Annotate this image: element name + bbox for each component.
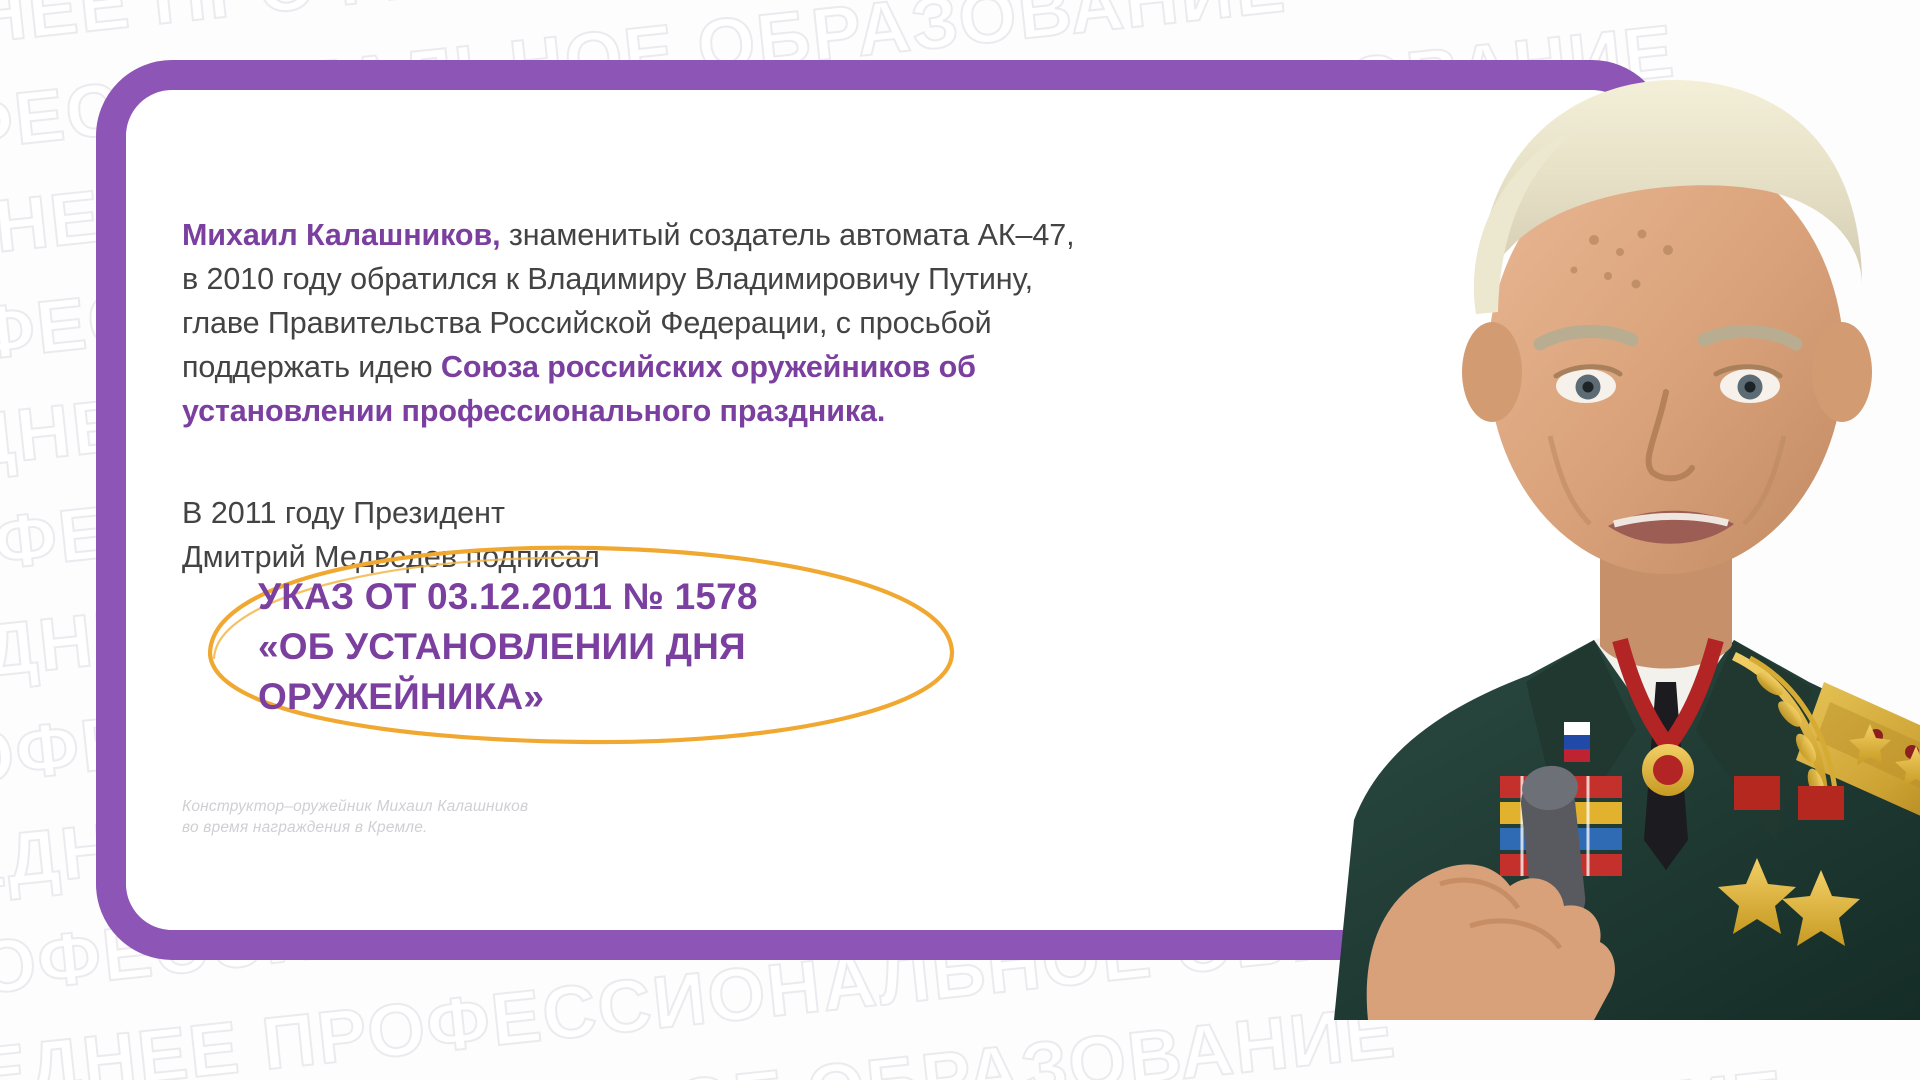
decree-line-2: «ОБ УСТАНОВЛЕНИИ ДНЯ [258, 622, 958, 672]
decree-callout: УКАЗ ОТ 03.12.2011 № 1578 «ОБ УСТАНОВЛЕН… [182, 538, 982, 758]
photo-caption-line1: Конструктор–оружейник Михаил Калашников [182, 796, 528, 817]
watermark-line: СРЕДНЕЕ ПРОФЕССИОНАЛЬНОЕ ОБРАЗОВАНИЕ [0, 991, 1920, 1080]
watermark-line: СРЕДНЕЕ ПРОФЕССИОНАЛЬНОЕ ОБРАЗОВАНИЕ [0, 0, 1920, 28]
decree-text: УКАЗ ОТ 03.12.2011 № 1578 «ОБ УСТАНОВЛЕН… [258, 572, 958, 722]
body-copy: Михаил Калашников, знаменитый создатель … [182, 182, 1082, 579]
decree-line-3: ОРУЖЕЙНИКА» [258, 672, 958, 722]
slide-root: СРЕДНЕЕ ПРОФЕССИОНАЛЬНОЕ ОБРАЗОВАНИЕ СРЕ… [0, 0, 1920, 1080]
content-card: Михаил Калашников, знаменитый создатель … [96, 60, 1668, 960]
content-card-inner: Михаил Калашников, знаменитый создатель … [126, 90, 1638, 930]
photo-caption: Конструктор–оружейник Михаил Калашников … [182, 796, 528, 838]
paragraph-president-line1: В 2011 году Президент [182, 491, 1082, 535]
decree-line-1: УКАЗ ОТ 03.12.2011 № 1578 [258, 572, 958, 622]
paragraph-intro: Михаил Калашников, знаменитый создатель … [182, 213, 1082, 433]
paragraph-segment-name: Михаил Калашников, [182, 218, 500, 252]
photo-caption-line2: во время награждения в Кремле. [182, 817, 528, 838]
